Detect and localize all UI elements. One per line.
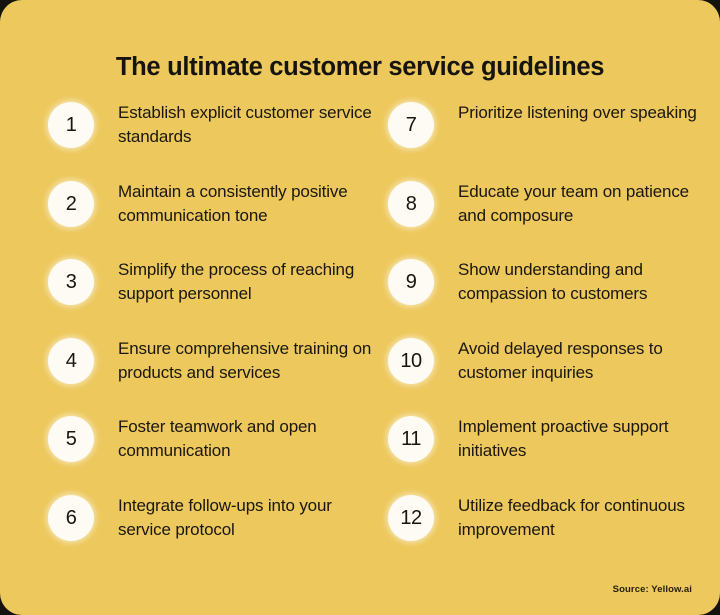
number-badge: 1 bbox=[48, 102, 94, 148]
badge-number: 9 bbox=[388, 259, 434, 305]
list-item: 6 Integrate follow-ups into your service… bbox=[48, 495, 378, 574]
number-badge: 3 bbox=[48, 259, 94, 305]
list-item: 3 Simplify the process of reaching suppo… bbox=[48, 259, 378, 338]
list-item-text: Avoid delayed responses to customer inqu… bbox=[458, 337, 708, 385]
badge-number: 7 bbox=[388, 102, 434, 148]
list-item-text: Maintain a consistently positive communi… bbox=[118, 180, 380, 228]
list-item: 7 Prioritize listening over speaking bbox=[388, 102, 688, 181]
badge-number: 1 bbox=[48, 102, 94, 148]
badge-number: 10 bbox=[388, 338, 434, 384]
number-badge: 12 bbox=[388, 495, 434, 541]
list-item-text: Foster teamwork and open communication bbox=[118, 415, 380, 463]
list-item-text: Ensure comprehensive training on product… bbox=[118, 337, 380, 385]
badge-number: 5 bbox=[48, 416, 94, 462]
badge-number: 2 bbox=[48, 181, 94, 227]
page-title: The ultimate customer service guidelines bbox=[0, 52, 720, 82]
list-item-text: Prioritize listening over speaking bbox=[458, 101, 708, 125]
number-badge: 5 bbox=[48, 416, 94, 462]
badge-number: 6 bbox=[48, 495, 94, 541]
list-item-text: Show understanding and compassion to cus… bbox=[458, 258, 708, 306]
list-item: 4 Ensure comprehensive training on produ… bbox=[48, 338, 378, 417]
number-badge: 10 bbox=[388, 338, 434, 384]
list-item-text: Establish explicit customer service stan… bbox=[118, 101, 380, 149]
guidelines-column-left: 1 Establish explicit customer service st… bbox=[48, 102, 378, 573]
infographic-panel: The ultimate customer service guidelines… bbox=[0, 0, 720, 615]
number-badge: 4 bbox=[48, 338, 94, 384]
guidelines-column-right: 7 Prioritize listening over speaking 8 E… bbox=[388, 102, 688, 573]
list-item-text: Utilize feedback for continuous improvem… bbox=[458, 494, 708, 542]
list-item: 10 Avoid delayed responses to customer i… bbox=[388, 338, 688, 417]
list-item: 1 Establish explicit customer service st… bbox=[48, 102, 378, 181]
source-attribution: Source: Yellow.ai bbox=[613, 584, 692, 595]
list-item-text: Educate your team on patience and compos… bbox=[458, 180, 708, 228]
badge-number: 12 bbox=[388, 495, 434, 541]
badge-number: 11 bbox=[388, 416, 434, 462]
list-item: 11 Implement proactive support initiativ… bbox=[388, 416, 688, 495]
list-item: 2 Maintain a consistently positive commu… bbox=[48, 181, 378, 260]
number-badge: 9 bbox=[388, 259, 434, 305]
number-badge: 7 bbox=[388, 102, 434, 148]
list-item-text: Integrate follow-ups into your service p… bbox=[118, 494, 380, 542]
list-item: 8 Educate your team on patience and comp… bbox=[388, 181, 688, 260]
list-item: 5 Foster teamwork and open communication bbox=[48, 416, 378, 495]
number-badge: 2 bbox=[48, 181, 94, 227]
badge-number: 8 bbox=[388, 181, 434, 227]
list-item-text: Implement proactive support initiatives bbox=[458, 415, 708, 463]
list-item: 9 Show understanding and compassion to c… bbox=[388, 259, 688, 338]
list-item: 12 Utilize feedback for continuous impro… bbox=[388, 495, 688, 574]
number-badge: 8 bbox=[388, 181, 434, 227]
number-badge: 6 bbox=[48, 495, 94, 541]
badge-number: 3 bbox=[48, 259, 94, 305]
number-badge: 11 bbox=[388, 416, 434, 462]
badge-number: 4 bbox=[48, 338, 94, 384]
list-item-text: Simplify the process of reaching support… bbox=[118, 258, 380, 306]
